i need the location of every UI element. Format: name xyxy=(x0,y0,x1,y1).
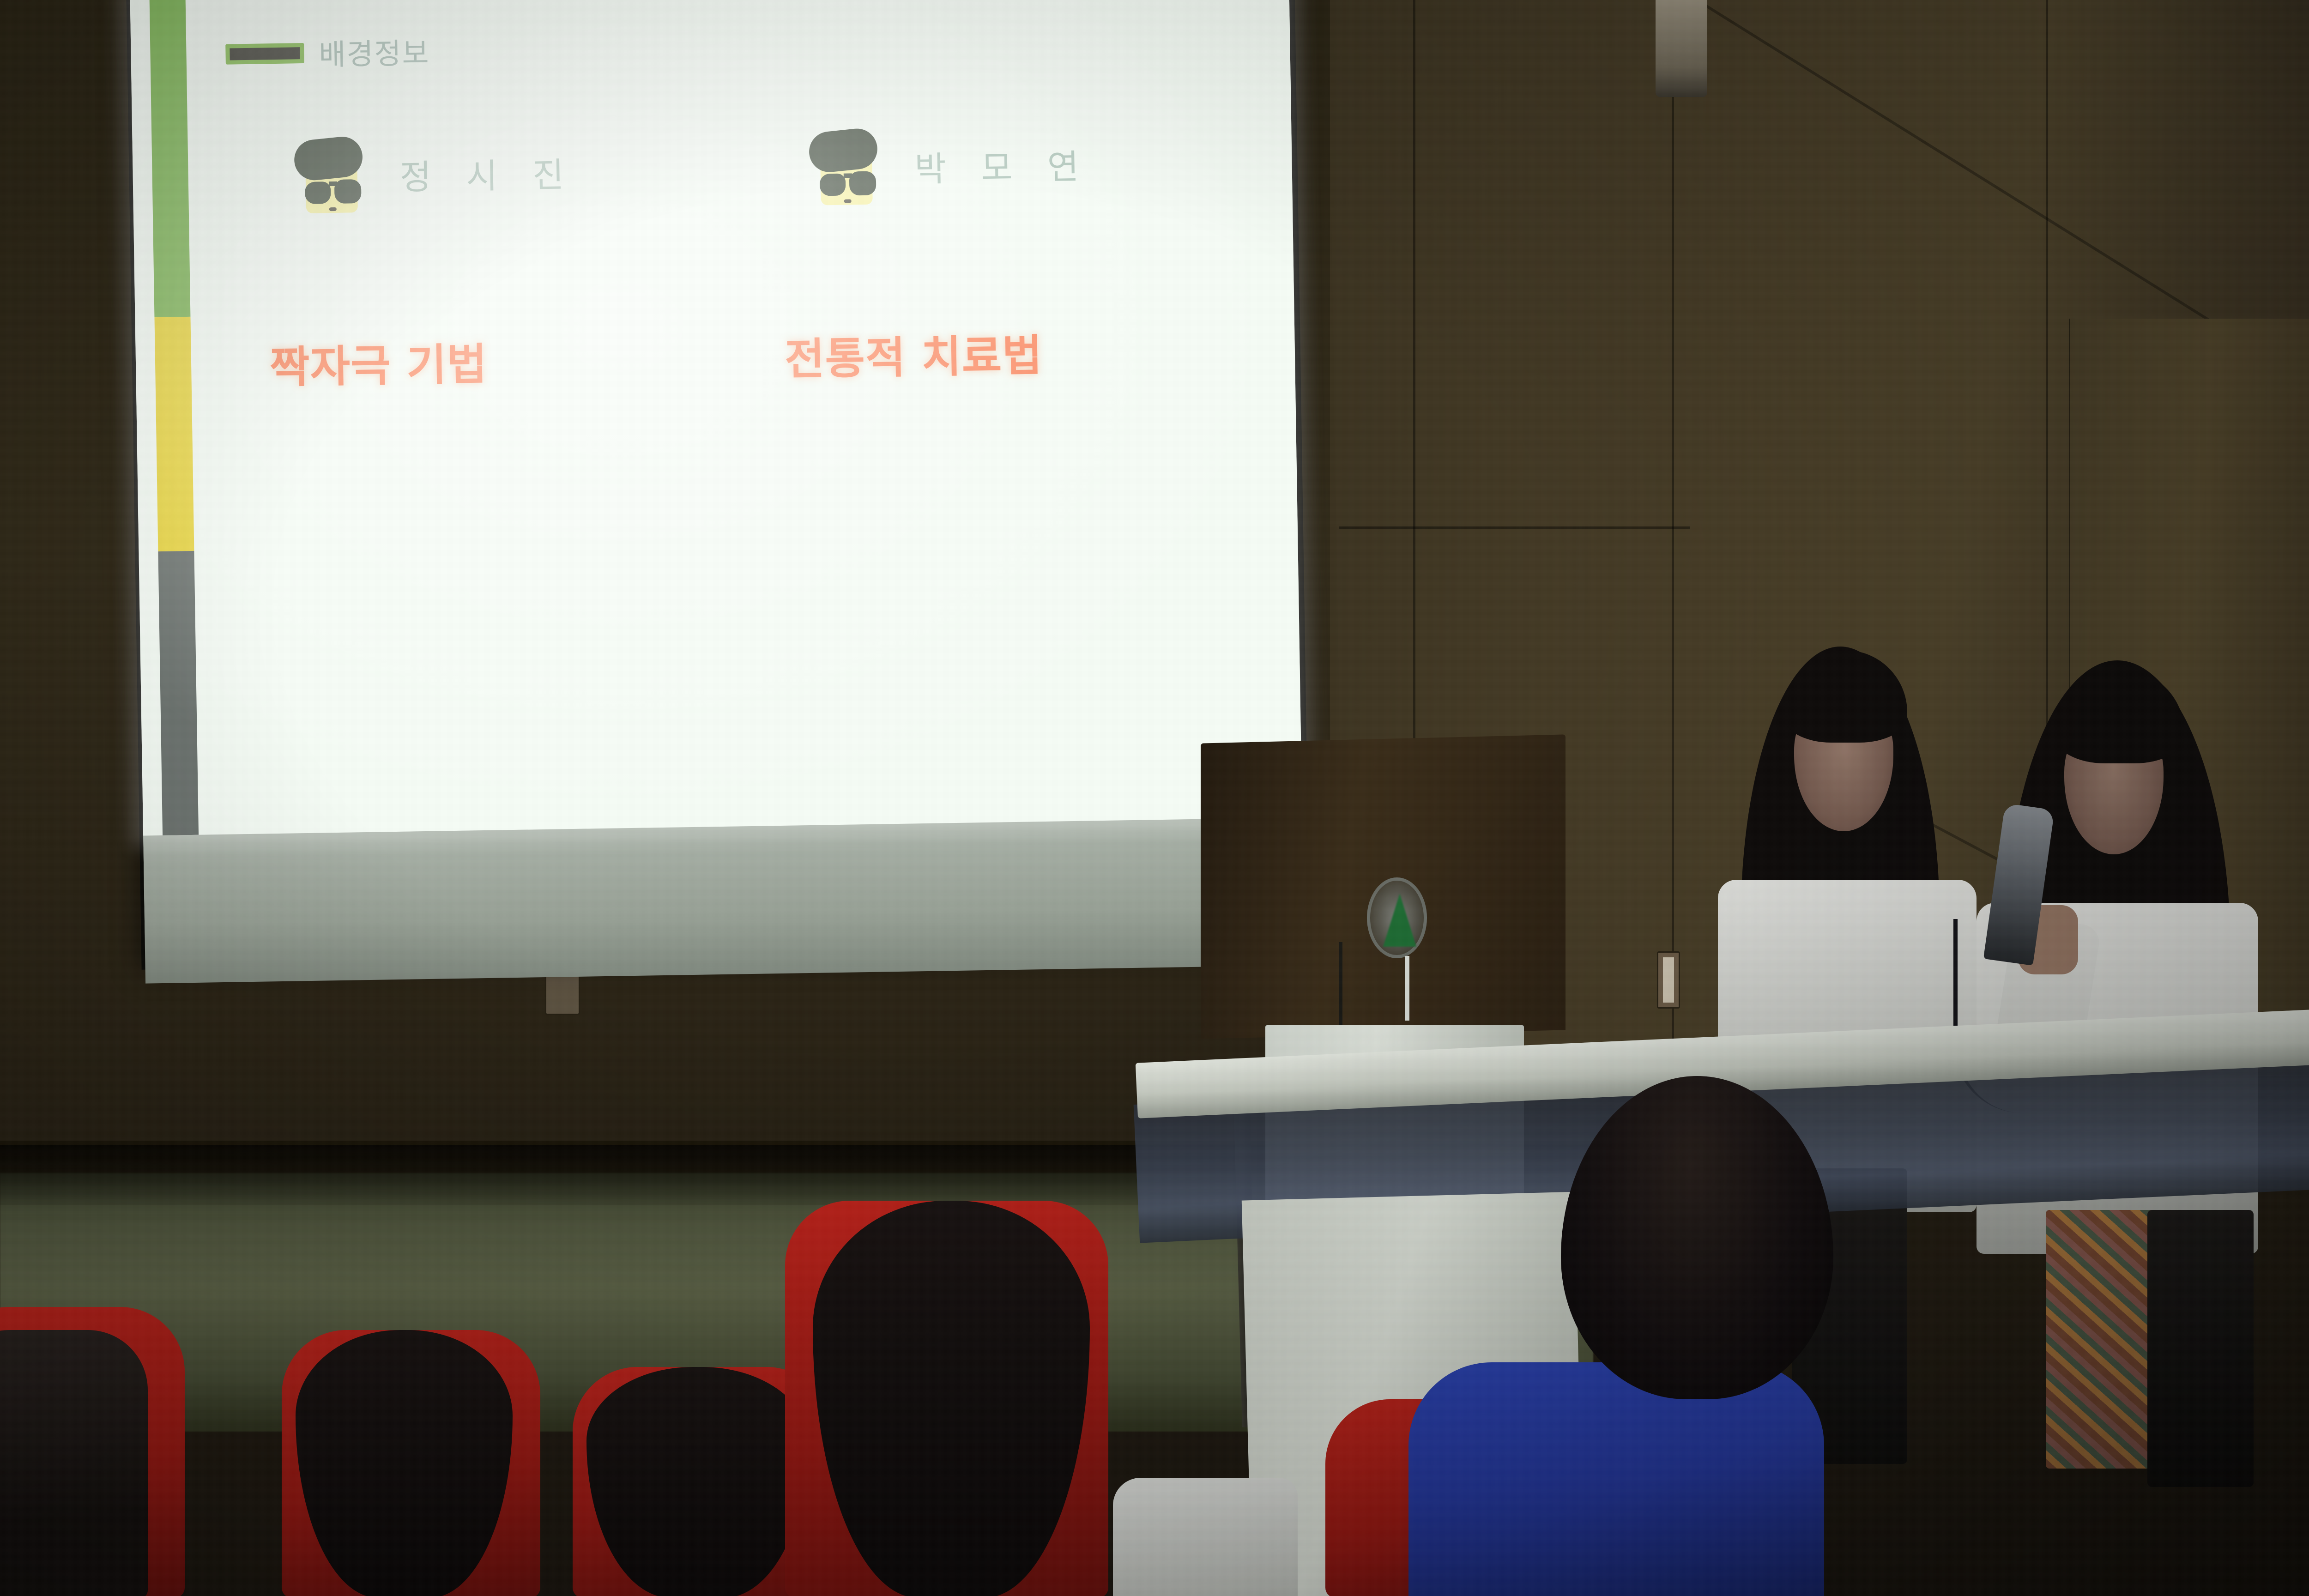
auditorium-seat-cushion xyxy=(0,1330,148,1596)
wall-seam xyxy=(1672,0,1674,1108)
presenter-name: 정 시 진 xyxy=(399,147,576,199)
bullet-bar-icon xyxy=(225,42,304,64)
presenter-legs xyxy=(2147,1210,2254,1487)
audience-member-3 xyxy=(813,1201,1090,1596)
accent-strip-yellow xyxy=(154,317,194,551)
slide-column-right: 박 모 연 전통적 치료법 xyxy=(753,121,1272,387)
light-switch[interactable] xyxy=(1657,951,1680,1009)
screen-unlit-area xyxy=(143,817,1305,983)
presenter-entry: 박 모 연 xyxy=(753,121,1269,209)
topic-label: 전통적 치료법 xyxy=(784,317,1272,387)
slide-column-left: 정 시 진 짝자극 기법 xyxy=(238,129,757,396)
person-avatar-sunglasses-icon xyxy=(809,127,884,208)
slide-accent-strip xyxy=(150,0,199,835)
projected-slide: 배경정보 정 시 진 xyxy=(130,0,1302,836)
ceiling-speaker-icon xyxy=(1656,0,1707,97)
slide-header: 배경정보 xyxy=(225,30,430,75)
audience-member-3-top xyxy=(1113,1478,1298,1596)
projection-screen: 배경정보 정 시 진 xyxy=(127,0,1310,970)
gooseneck-microphone-icon xyxy=(1405,956,1409,1021)
audience-member-4-shirt xyxy=(1408,1362,1824,1596)
presenter-entry: 정 시 진 xyxy=(238,129,755,218)
topic-entry: 전통적 치료법 xyxy=(756,317,1272,387)
presenter-name: 박 모 연 xyxy=(914,139,1091,191)
person-avatar-sunglasses-icon xyxy=(294,135,369,217)
topic-entry: 짝자극 기법 xyxy=(242,325,757,396)
slide-header-title: 배경정보 xyxy=(319,30,430,74)
topic-label: 짝자극 기법 xyxy=(269,325,757,396)
accent-strip-grey xyxy=(158,550,199,835)
wall-seam xyxy=(1339,526,1690,529)
audience-member-1 xyxy=(296,1330,513,1596)
slide-columns: 정 시 진 짝자극 기법 xyxy=(238,121,1272,396)
accent-strip-green xyxy=(150,0,191,317)
audience-member-2 xyxy=(586,1367,808,1596)
presentation-photo-scene: 배경정보 정 시 진 xyxy=(0,0,2309,1596)
